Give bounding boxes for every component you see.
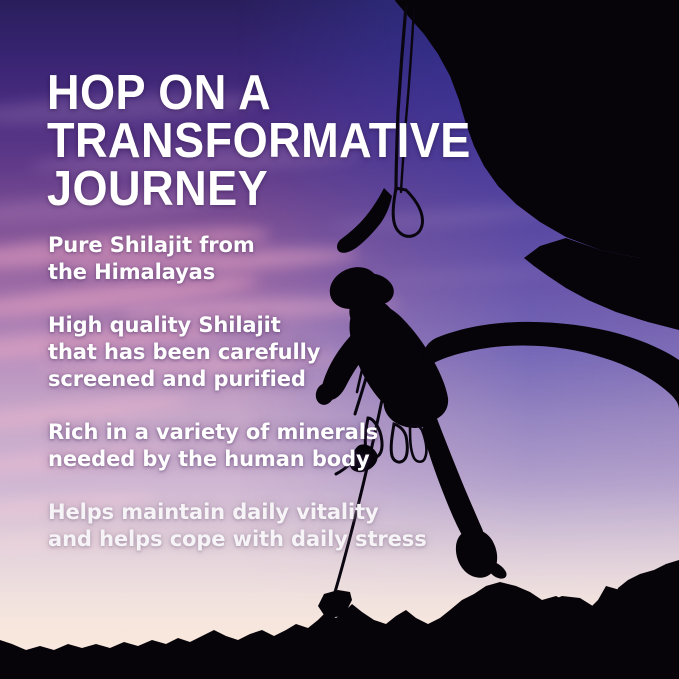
page-title: HOP ON A TRANSFORMATIVE JOURNEY	[47, 69, 443, 213]
benefit-item-pure-shilajit: Pure Shilajit from the Himalayas	[48, 232, 518, 286]
benefit-item-high-quality: High quality Shilajit that has been care…	[48, 312, 518, 393]
benefit-line: Helps maintain daily vitality	[48, 499, 518, 526]
headline-line-1: HOP ON A	[47, 69, 443, 117]
benefit-item-vitality: Helps maintain daily vitality and helps …	[48, 499, 518, 553]
benefit-line: screened and purified	[48, 366, 518, 393]
benefit-list: Pure Shilajit from the Himalayas High qu…	[48, 232, 518, 553]
benefit-line: Rich in a variety of minerals	[48, 419, 518, 446]
headline-line-2: TRANSFORMATIVE	[47, 117, 443, 165]
benefit-line: the Himalayas	[48, 259, 518, 286]
poster-copy: HOP ON A TRANSFORMATIVE JOURNEY Pure Shi…	[0, 0, 679, 679]
promo-poster: HOP ON A TRANSFORMATIVE JOURNEY Pure Shi…	[0, 0, 679, 679]
benefit-line: and helps cope with daily stress	[48, 526, 518, 553]
headline-line-3: JOURNEY	[47, 165, 443, 213]
benefit-item-minerals: Rich in a variety of minerals needed by …	[48, 419, 518, 473]
benefit-line: Pure Shilajit from	[48, 232, 518, 259]
benefit-line: High quality Shilajit	[48, 312, 518, 339]
benefit-line: that has been carefully	[48, 339, 518, 366]
benefit-line: needed by the human body	[48, 446, 518, 473]
